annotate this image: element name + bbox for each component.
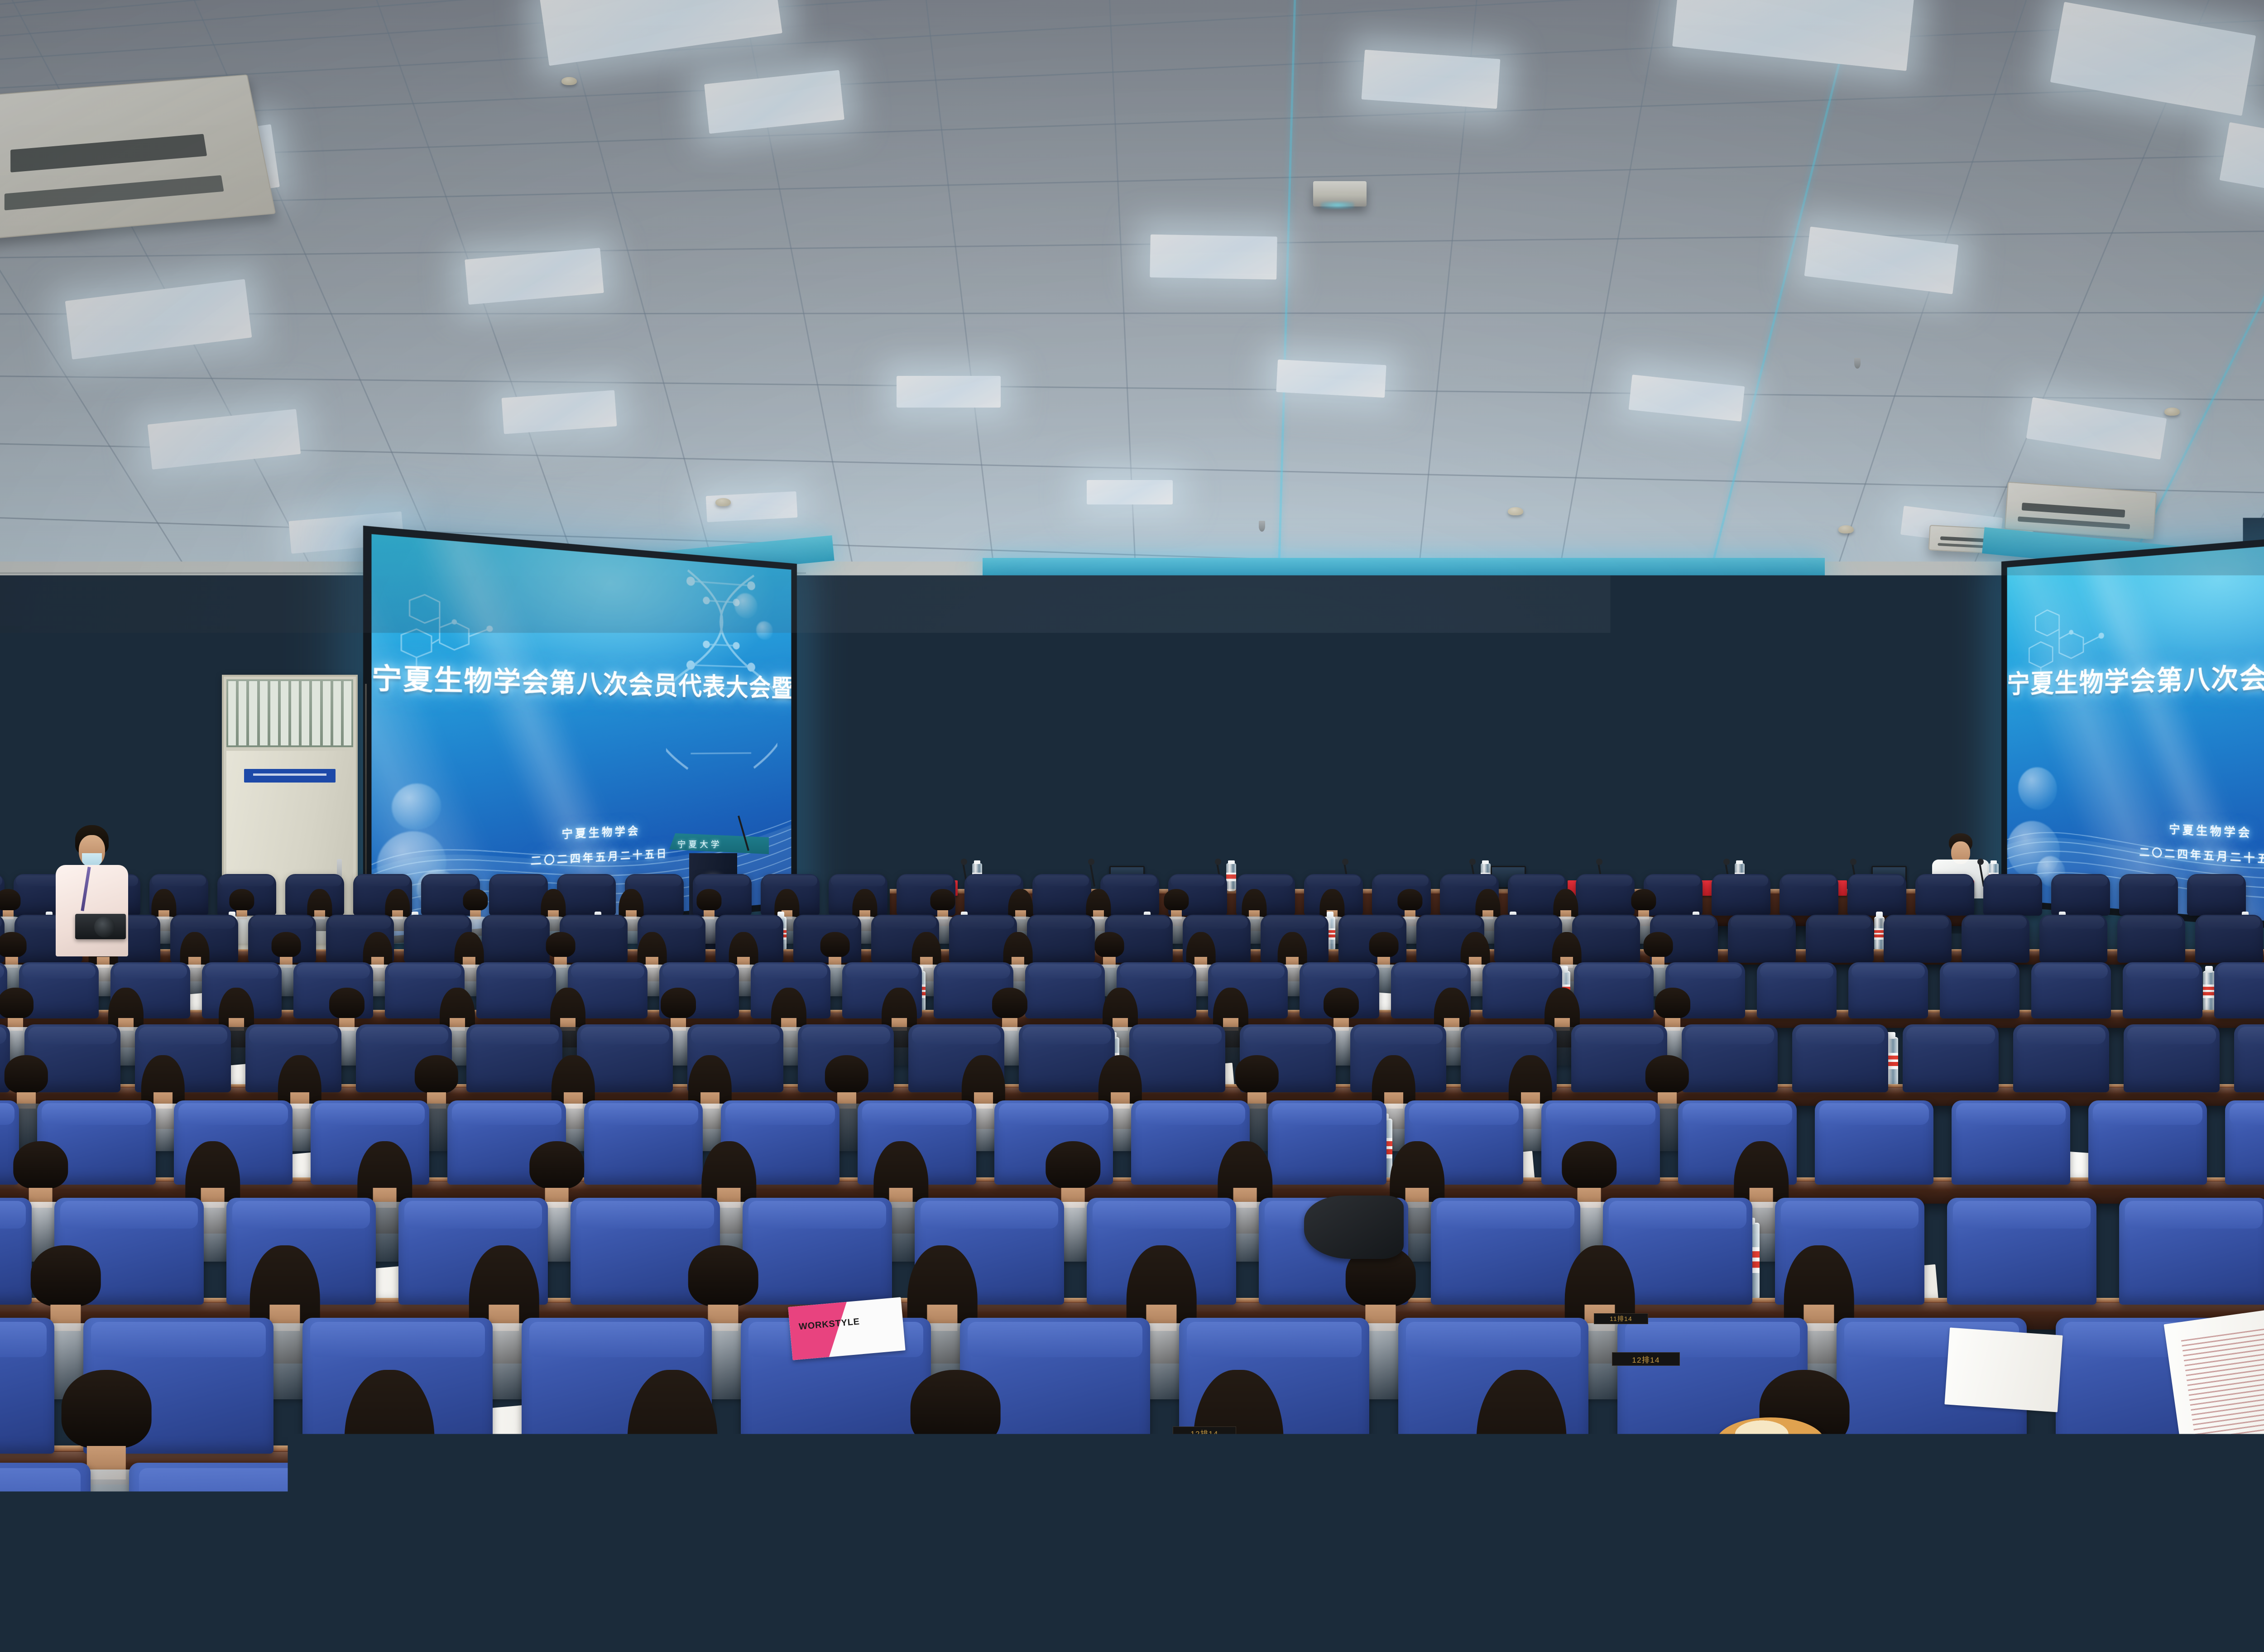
person-hair [697,889,722,911]
person-hair [1398,889,1423,911]
audience-seat[interactable] [2088,1100,2207,1185]
ceiling-grid-line [0,0,2264,51]
snack-wrappers [1648,1440,1703,1473]
ceiling-grid-line [0,144,2264,211]
audience-seat[interactable] [412,1463,657,1644]
camera-lens-icon [273,826,295,848]
person-hair [825,1055,868,1093]
ceiling-panel-light [148,409,301,470]
audience-seat[interactable] [1728,915,1796,963]
audience-seat[interactable] [2195,915,2263,963]
ceiling-panel-light [2026,397,2167,460]
audience-seat[interactable] [1431,1198,1580,1305]
audience-seat[interactable] [1806,915,1874,963]
person-hair [529,1141,584,1189]
person-hair [1643,932,1673,957]
ceiling-panel-light [1804,226,1959,294]
person-hair [1562,1141,1616,1189]
ceiling-panel-light [65,279,252,360]
ceiling-panel-light [897,376,1001,408]
audience-seat[interactable] [1576,874,1635,916]
bottle-cap [1327,912,1333,918]
audience-seat[interactable] [2225,1100,2264,1185]
ceiling-grid-line [0,0,2264,15]
person-hair [1046,1141,1100,1189]
audience-seat[interactable] [0,1198,32,1305]
audience-seat[interactable] [482,915,550,963]
sprinkler-head-icon [1259,521,1265,532]
ceiling-grid-line-lit [1271,0,1297,602]
molecule-graphic [2015,572,2124,727]
audience-seat[interactable] [695,1463,940,1644]
ceiling-grid-line [0,0,2264,34]
smoke-detector-icon [715,498,731,506]
audience-seat[interactable] [466,1024,562,1092]
person-hair [1324,988,1359,1018]
ceiling-grid-line [0,312,2264,315]
ceiling-panel-light [1150,235,1277,280]
bottle-cap [1876,912,1883,918]
ceiling-panel-light [1629,375,1745,422]
person-hair [1655,988,1690,1018]
wall-speaker [145,629,198,706]
ceiling-tile-grid [0,0,2264,602]
person-hair [415,1055,458,1093]
audience-seat[interactable] [2117,915,2185,963]
molecule-graphic [382,551,515,728]
audience-seat[interactable] [1025,962,1105,1018]
photographer-right [226,809,317,958]
person-hair [329,988,365,1018]
security-camera-icon [159,824,173,838]
person-hair [661,988,696,1018]
audience-seat[interactable] [1815,1100,1933,1185]
audience-seat[interactable] [2214,962,2264,1018]
seat-number-plate: 11排14 [1594,1313,1648,1324]
straw-hat [1716,1417,1825,1467]
audience-seat[interactable] [2187,874,2246,916]
audience-seat[interactable] [1780,874,1838,916]
audience-seat[interactable] [1827,1463,2072,1644]
smoke-detector-icon [1508,507,1523,515]
smoke-detector-icon [2164,408,2180,416]
audience-seat[interactable] [1032,874,1091,916]
audience-seat[interactable] [2031,962,2111,1018]
audience-seat[interactable] [1903,1024,1999,1092]
ceiling-panel-light [704,70,844,134]
ceiling-projector [1313,181,1367,206]
audience-seat[interactable] [2119,1198,2264,1305]
ceiling-panel-light [1276,360,1386,398]
person-hair [820,932,849,957]
screen-center-title: 宁夏生物学会第八次会员代表大会暨学术年会 [1009,667,1807,737]
person-hair [1631,889,1656,911]
workstyle-notebook: WORKSTYLE [788,1297,905,1360]
photographer-left [49,825,135,956]
person-hair [0,988,33,1018]
audience-seat[interactable] [2039,915,2107,963]
person-hair [31,1245,101,1306]
ceiling-grid-line [0,69,2264,168]
audience-seat[interactable] [2123,962,2202,1018]
person-hair [688,1245,758,1306]
ceiling-panel-light [2050,2,2256,116]
audience-seat[interactable] [1682,1024,1778,1092]
smoke-detector-icon [561,77,577,85]
person-hair [1094,932,1124,957]
audience-seat[interactable] [1962,915,2029,963]
audience-seat[interactable] [1757,962,1837,1018]
ceiling-grid-line [0,0,2264,23]
audience-seat[interactable] [584,1100,703,1185]
audience-water-bottle [1874,917,1885,952]
seat-number-plate: 12排14 [1612,1352,1680,1366]
audience-seat[interactable] [743,1198,892,1305]
audience-seat[interactable] [1574,962,1654,1018]
ceiling-soffit-center [983,558,1825,576]
ceiling-panel-light [2219,122,2264,209]
ceiling-panel-light [1087,480,1173,504]
photographer-body [56,865,128,956]
person-hair [1164,889,1189,911]
ceiling-grid-line [0,0,2264,99]
printed-papers [1944,1327,2063,1412]
audience-seat[interactable] [1940,962,2019,1018]
audience-water-bottle [2203,971,2215,1013]
ceiling-grid-line [0,0,2264,131]
audience-seat[interactable] [1848,962,1928,1018]
ceiling-grid-line-lit [1655,0,1868,602]
bottle-cap [2205,966,2213,973]
audience-seat[interactable] [1544,1463,1789,1644]
door-sign [244,769,336,783]
audience-seat[interactable] [2234,1024,2264,1092]
photographer-body [233,850,311,958]
ceiling-panel-light [540,0,782,66]
audience-seat[interactable] [2013,1024,2109,1092]
person-hair [0,932,26,957]
person-hair [5,1055,48,1093]
audience-seat[interactable] [476,962,556,1018]
camera-bag [1304,1196,1404,1259]
person-hair [0,889,21,911]
audience-seat[interactable] [1712,874,1770,916]
person-hair [931,889,955,911]
person-hair [1369,932,1398,957]
audience-seat[interactable] [129,1463,374,1644]
audience-seat[interactable] [1947,1198,2096,1305]
audience-seat[interactable] [2051,874,2110,916]
person-hair [546,932,575,957]
notebook-pink-block [788,1302,851,1360]
person-hair [13,1141,68,1189]
audience-seat[interactable] [2110,1463,2264,1644]
ceiling [0,0,2264,602]
ceiling-panel-light [465,248,604,305]
ceiling-grid-line [1105,0,1145,602]
audience-seat[interactable] [1027,915,1095,963]
audience-seat[interactable] [489,874,548,916]
person-hair [992,988,1027,1018]
seat-number-plate: 12排14 [1173,1426,1236,1439]
person-hair [1235,1055,1279,1093]
smoke-detector-icon [1838,525,1854,533]
audience-seat[interactable] [978,1463,1223,1644]
ceiling-panel-light [1672,0,1914,71]
ceiling-grid-line [915,0,1018,602]
audience-seat[interactable] [1261,1463,1506,1644]
ceiling-grid-line [0,374,2264,405]
ceiling-grid-line [1526,0,1677,602]
audience-seat[interactable] [1792,1024,1888,1092]
audience-seat[interactable] [2124,1024,2220,1092]
camera-lens-icon [94,917,115,937]
bottle-label [1874,928,1885,940]
conference-hall-photo: 宁夏生物学会第八次会员代表大会暨学术年会 宁夏生物学会 二〇二四年五月二十五日 [0,0,2264,1652]
audience-seat[interactable] [0,1463,91,1644]
ceiling-panel-light [706,491,798,522]
sprinkler-head-icon [1854,358,1861,369]
audience-seat[interactable] [1884,915,1952,963]
paper-text-lines [2181,1323,2264,1452]
bottle-label [2203,984,2215,998]
audience-seat[interactable] [2119,874,2178,916]
audience-seat[interactable] [1983,874,2042,916]
audience-seat[interactable] [0,1318,54,1454]
person-hair [463,889,488,911]
door-transom-louvre [226,679,353,747]
ac-cassette-unit-left [0,74,276,240]
audience-seat[interactable] [1952,1100,2070,1185]
ceiling-panel-light [502,390,617,434]
person-hair [62,1370,152,1448]
audience-seat[interactable] [1847,874,1906,916]
person-hair [911,1370,1001,1448]
audience-seating [0,860,2264,1652]
audience-seat[interactable] [1268,1100,1386,1185]
person-hair [1645,1055,1689,1093]
ceiling-panel-light [1362,50,1501,109]
audience-seat[interactable] [1915,874,1974,916]
